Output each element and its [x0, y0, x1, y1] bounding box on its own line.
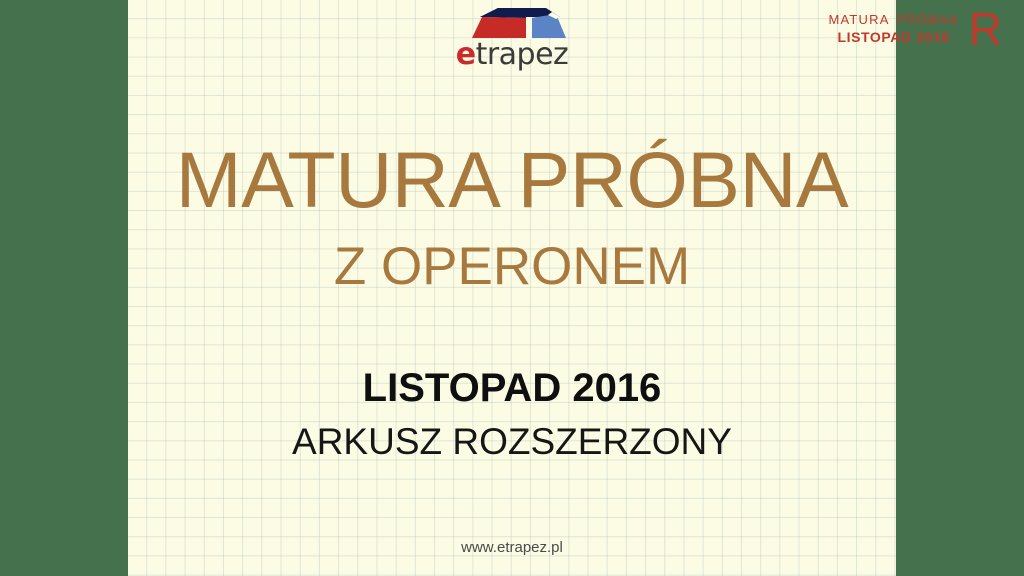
website-url[interactable]: www.etrapez.pl [128, 538, 896, 558]
page-title: MATURA PRÓBNA [128, 138, 896, 222]
exam-date: LISTOPAD 2016 [128, 365, 896, 411]
exam-level-letter: R [969, 8, 1002, 50]
page-subtitle: Z OPERONEM [128, 237, 896, 297]
slide-main: MATURA PRÓBNA Z OPERONEM LISTOPAD 2016 A… [128, 0, 896, 576]
slide-canvas: etrapez MATURA PRÓBNA LISTOPAD 2016 R MA… [0, 0, 1024, 576]
exam-sheet-type: ARKUSZ ROZSZERZONY [128, 420, 896, 464]
